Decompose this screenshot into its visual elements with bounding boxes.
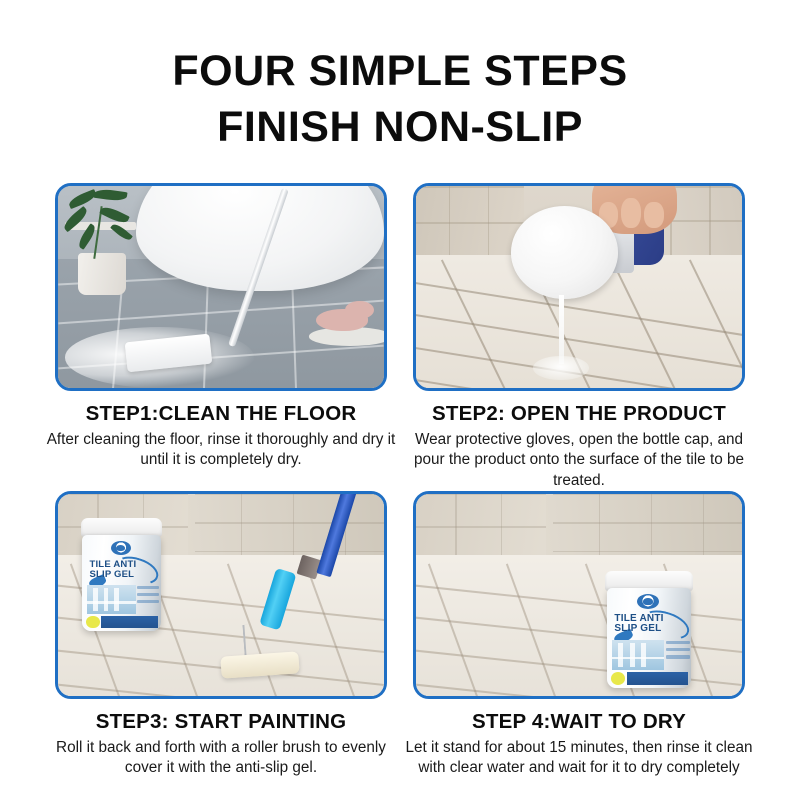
step-3-photo: TILE ANTI SLIP GEL	[55, 491, 387, 699]
jar-seal-badge	[86, 616, 99, 628]
brand-logo-icon	[111, 541, 131, 555]
step-2-title: STEP2: OPEN THE PRODUCT	[400, 402, 758, 426]
step-card-2: STEP2: OPEN THE PRODUCT Wear protective …	[400, 183, 758, 491]
title-line-2: FINISH NON-SLIP	[0, 100, 800, 156]
step-2-description: Wear protective gloves, open the bottle …	[400, 430, 758, 491]
product-jar: TILE ANTI SLIP GEL	[605, 571, 693, 688]
bathtub	[136, 186, 384, 291]
step-2-caption: STEP2: OPEN THE PRODUCT Wear protective …	[400, 402, 758, 491]
step-4-photo: TILE ANTI SLIP GEL	[413, 491, 745, 699]
jar-feature-ticks	[666, 641, 690, 665]
step-1-title: STEP1:CLEAN THE FLOOR	[42, 402, 400, 426]
jar-product-name: TILE ANTI SLIP GEL	[614, 614, 687, 635]
jar-seal-badge	[611, 672, 625, 685]
step-1-photo	[55, 183, 387, 391]
pouring-gel-stream	[559, 295, 564, 364]
jar-photo-strip	[612, 640, 664, 670]
step-4-title: STEP 4:WAIT TO DRY	[400, 710, 758, 734]
jar-feature-ticks	[137, 586, 159, 609]
jar-footer-band	[627, 672, 688, 685]
brand-logo-icon	[637, 594, 659, 609]
step-card-3: TILE ANTI SLIP GEL	[42, 491, 400, 779]
step-1-description: After cleaning the floor, rinse it thoro…	[42, 430, 400, 471]
jar-product-name: TILE ANTI SLIP GEL	[89, 560, 156, 580]
step-4-description: Let it stand for about 15 minutes, then …	[400, 738, 758, 779]
container-lid	[511, 206, 619, 299]
jar-name-line-2: SLIP GEL	[614, 624, 687, 634]
step-3-caption: STEP3: START PAINTING Roll it back and f…	[42, 710, 400, 779]
steps-grid: STEP1:CLEAN THE FLOOR After cleaning the…	[0, 183, 800, 803]
step-1-caption: STEP1:CLEAN THE FLOOR After cleaning the…	[42, 402, 400, 471]
step-card-4: TILE ANTI SLIP GEL	[400, 491, 758, 779]
step-3-description: Roll it back and forth with a roller bru…	[42, 738, 400, 779]
step-4-caption: STEP 4:WAIT TO DRY Let it stand for abou…	[400, 710, 758, 779]
title-line-1: FOUR SIMPLE STEPS	[0, 44, 800, 100]
jar-photo-strip	[87, 585, 136, 614]
jar-footer-band	[101, 616, 157, 628]
plant-pot	[78, 253, 127, 295]
jar-body: TILE ANTI SLIP GEL	[82, 535, 160, 631]
product-jar: TILE ANTI SLIP GEL	[81, 518, 163, 631]
step-card-1: STEP1:CLEAN THE FLOOR After cleaning the…	[42, 183, 400, 471]
step-2-photo	[413, 183, 745, 391]
step-3-title: STEP3: START PAINTING	[42, 710, 400, 734]
gel-puddle	[533, 356, 588, 380]
tile-floor	[416, 555, 742, 696]
page-title: FOUR SIMPLE STEPS FINISH NON-SLIP	[0, 44, 800, 156]
jar-name-line-2: SLIP GEL	[89, 570, 156, 580]
jar-body: TILE ANTI SLIP GEL	[607, 588, 691, 688]
